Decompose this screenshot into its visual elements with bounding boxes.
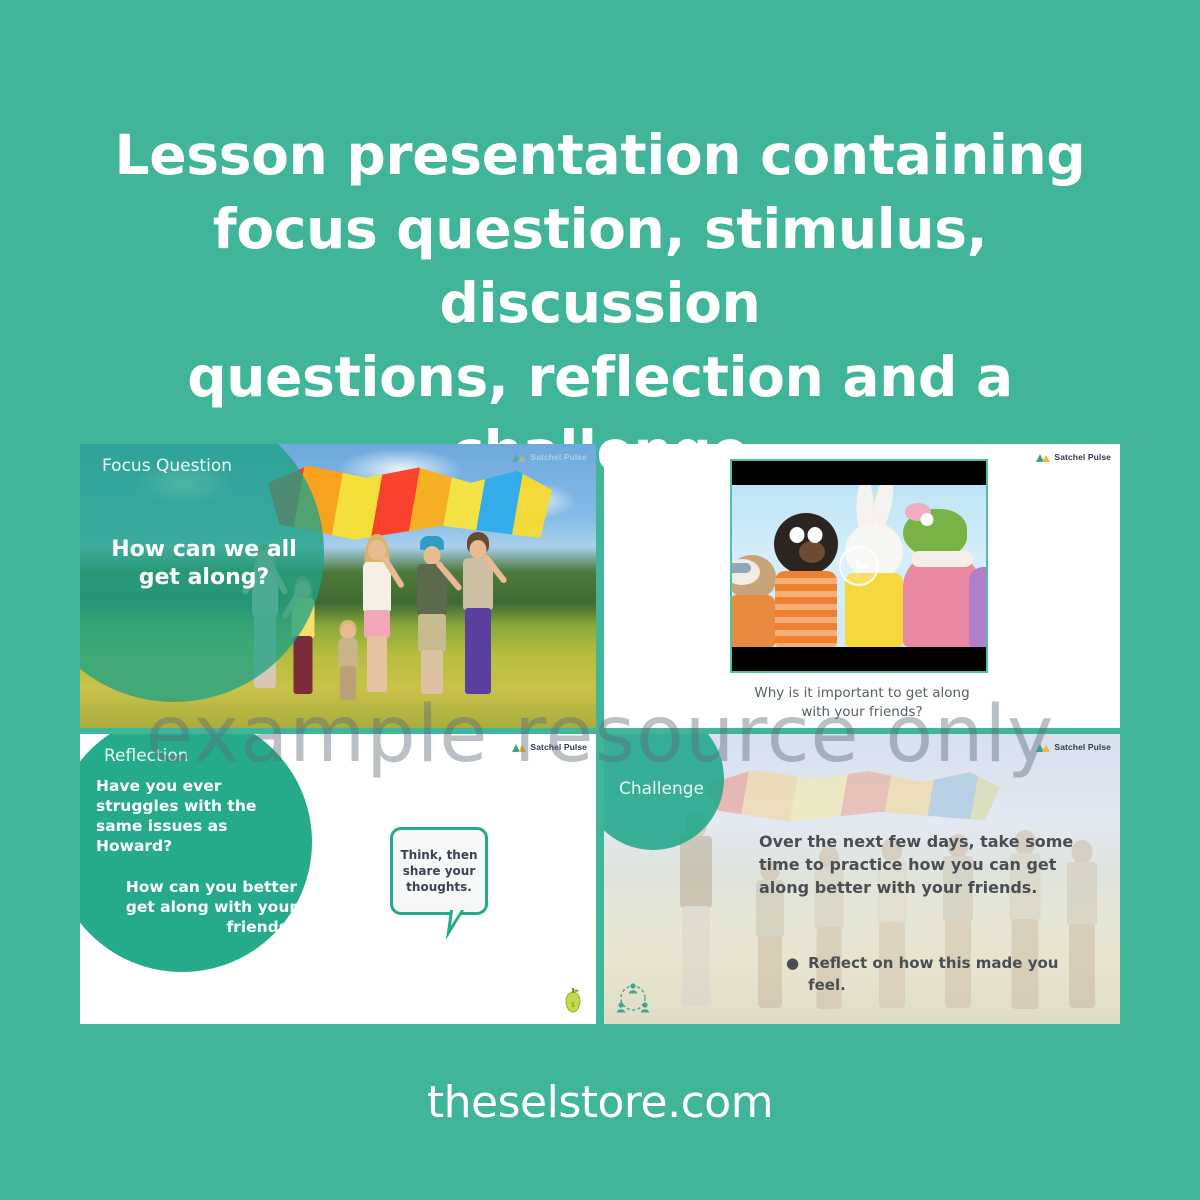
slide-stimulus[interactable]: Why is it important to get along with yo… <box>604 444 1120 728</box>
headline-line-1: Lesson presentation containing <box>60 118 1140 192</box>
stimulus-caption: Why is it important to get along with yo… <box>644 684 1080 722</box>
challenge-body-text: Over the next few days, take some time t… <box>759 830 1089 899</box>
speech-bubble: Think, then share your thoughts. <box>390 827 488 915</box>
headline-line-2: focus question, stimulus, discussion <box>60 192 1140 340</box>
poster-root: Lesson presentation containing focus que… <box>0 0 1200 1200</box>
video-letterbox-top <box>732 461 986 485</box>
stimulus-caption-line-1: Why is it important to get along <box>644 684 1080 703</box>
mountains-icon <box>512 743 526 752</box>
slide-cell-challenge: Challenge Over the next few days, take s… <box>600 734 1120 1030</box>
cartoon-extra <box>968 537 986 647</box>
slide-challenge[interactable]: Challenge Over the next few days, take s… <box>604 734 1120 1024</box>
logo-text: Satchel Pulse <box>1054 452 1111 462</box>
page-title: Lesson presentation containing focus que… <box>60 118 1140 488</box>
slide-reflection[interactable]: Reflection Have you ever struggles with … <box>80 734 596 1024</box>
mountains-icon <box>1036 743 1050 752</box>
reflection-question-1: Have you ever struggles with the same is… <box>96 776 286 856</box>
slide-focus-question[interactable]: Focus Question How can we all get along?… <box>80 444 596 728</box>
mountains-icon <box>512 453 526 462</box>
speech-bubble-text: Think, then share your thoughts. <box>393 830 485 912</box>
child-figure <box>336 620 360 704</box>
child-figure <box>412 536 452 704</box>
footer-url: theselstore.com <box>0 1077 1200 1128</box>
video-player[interactable] <box>730 459 988 673</box>
challenge-bullet-text: Reflect on how this made you feel. <box>808 952 1086 996</box>
stimulus-caption-line-2: with your friends? <box>644 703 1080 722</box>
play-button-icon[interactable] <box>839 546 879 586</box>
slide-cell-focus-question: Focus Question How can we all get along?… <box>80 444 600 734</box>
slide-cell-reflection: Reflection Have you ever struggles with … <box>80 734 600 1030</box>
satchel-pulse-logo: Satchel Pulse <box>1036 452 1111 462</box>
svg-text:5: 5 <box>571 1002 575 1009</box>
logo-text: Satchel Pulse <box>530 452 587 462</box>
child-figure <box>358 534 396 704</box>
pear-icon: 5 <box>563 988 583 1014</box>
satchel-pulse-logo: Satchel Pulse <box>512 452 587 462</box>
slide-grid: Focus Question How can we all get along?… <box>80 444 1120 1030</box>
people-network-icon <box>616 982 650 1014</box>
logo-text: Satchel Pulse <box>530 742 587 752</box>
speech-bubble-tail <box>446 910 464 940</box>
mountains-icon <box>1036 453 1050 462</box>
child-figure <box>458 532 498 704</box>
video-letterbox-bottom <box>732 647 986 671</box>
satchel-pulse-logo: Satchel Pulse <box>1036 742 1111 752</box>
challenge-bullet-list: ● Reflect on how this made you feel. <box>786 952 1086 996</box>
slide-title-reflection: Reflection <box>104 746 189 766</box>
list-item: ● Reflect on how this made you feel. <box>786 952 1086 996</box>
logo-text: Satchel Pulse <box>1054 742 1111 752</box>
slide-cell-stimulus: Why is it important to get along with yo… <box>600 444 1120 734</box>
satchel-pulse-logo: Satchel Pulse <box>512 742 587 752</box>
slide-title-focus-question: Focus Question <box>102 456 232 476</box>
slide-title-challenge: Challenge <box>619 779 704 799</box>
focus-question-text: How can we all get along? <box>106 536 302 592</box>
bullet-glyph: ● <box>786 952 799 996</box>
cartoon-bear <box>768 507 844 647</box>
reflection-question-2: How can you better get along with your f… <box>102 877 297 937</box>
video-thumbnail <box>732 485 986 647</box>
